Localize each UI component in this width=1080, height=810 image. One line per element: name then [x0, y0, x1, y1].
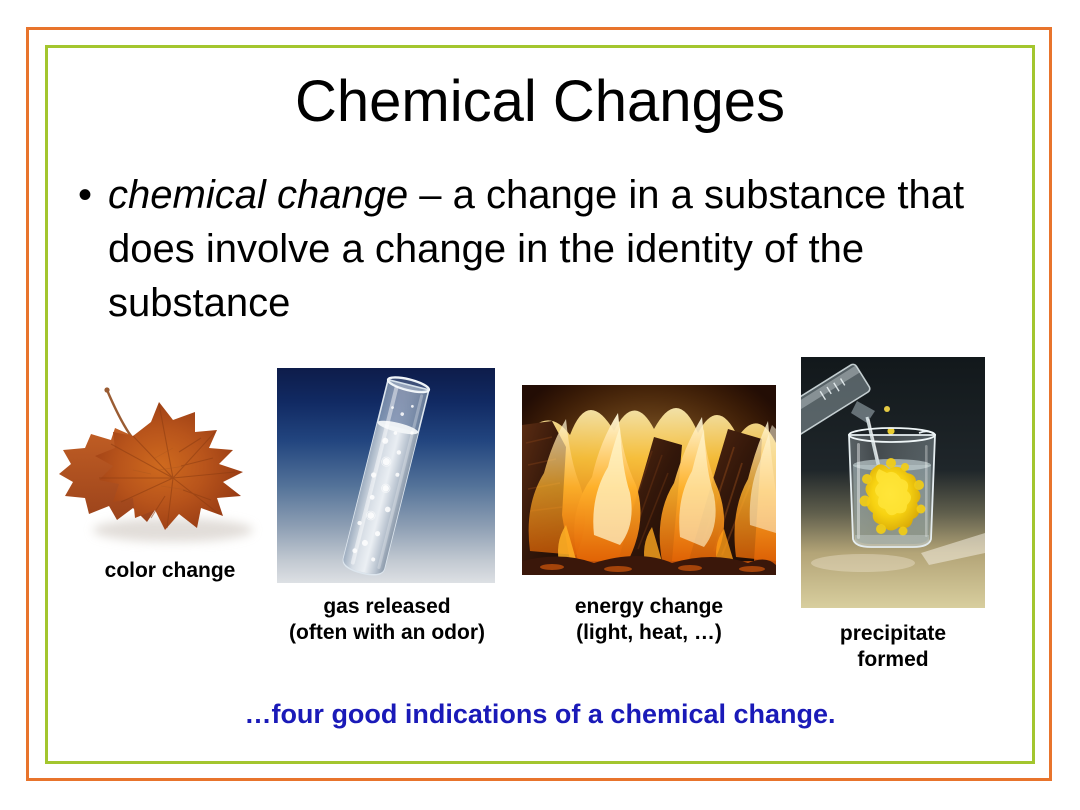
defined-term: chemical change	[108, 173, 408, 217]
summary-note: …four good indications of a chemical cha…	[60, 697, 1020, 731]
figure-gas-released	[277, 368, 495, 583]
figure-precipitate-formed	[801, 357, 985, 608]
slide-canvas: Chemical Changes • chemical change – a c…	[0, 0, 1080, 810]
body-content: • chemical change – a change in a substa…	[62, 168, 992, 330]
figure-caption-color-change: color change	[50, 558, 290, 584]
bullet-marker-icon: •	[62, 168, 108, 222]
fire-image	[522, 385, 776, 575]
maple-leaf-image	[55, 378, 285, 553]
list-item: • chemical change – a change in a substa…	[62, 168, 992, 330]
figure-caption-energy-change: energy change (light, heat, …)	[518, 594, 780, 646]
figure-caption-precipitate-formed: precipitate formed	[790, 621, 996, 673]
figure-caption-gas-released: gas released (often with an odor)	[262, 594, 512, 646]
precipitate-beaker-image	[801, 357, 985, 608]
test-tube-image	[277, 368, 495, 583]
page-title: Chemical Changes	[60, 66, 1020, 138]
figure-color-change	[55, 378, 285, 553]
bullet-text: chemical change – a change in a substanc…	[108, 168, 992, 330]
figure-energy-change	[522, 385, 776, 575]
